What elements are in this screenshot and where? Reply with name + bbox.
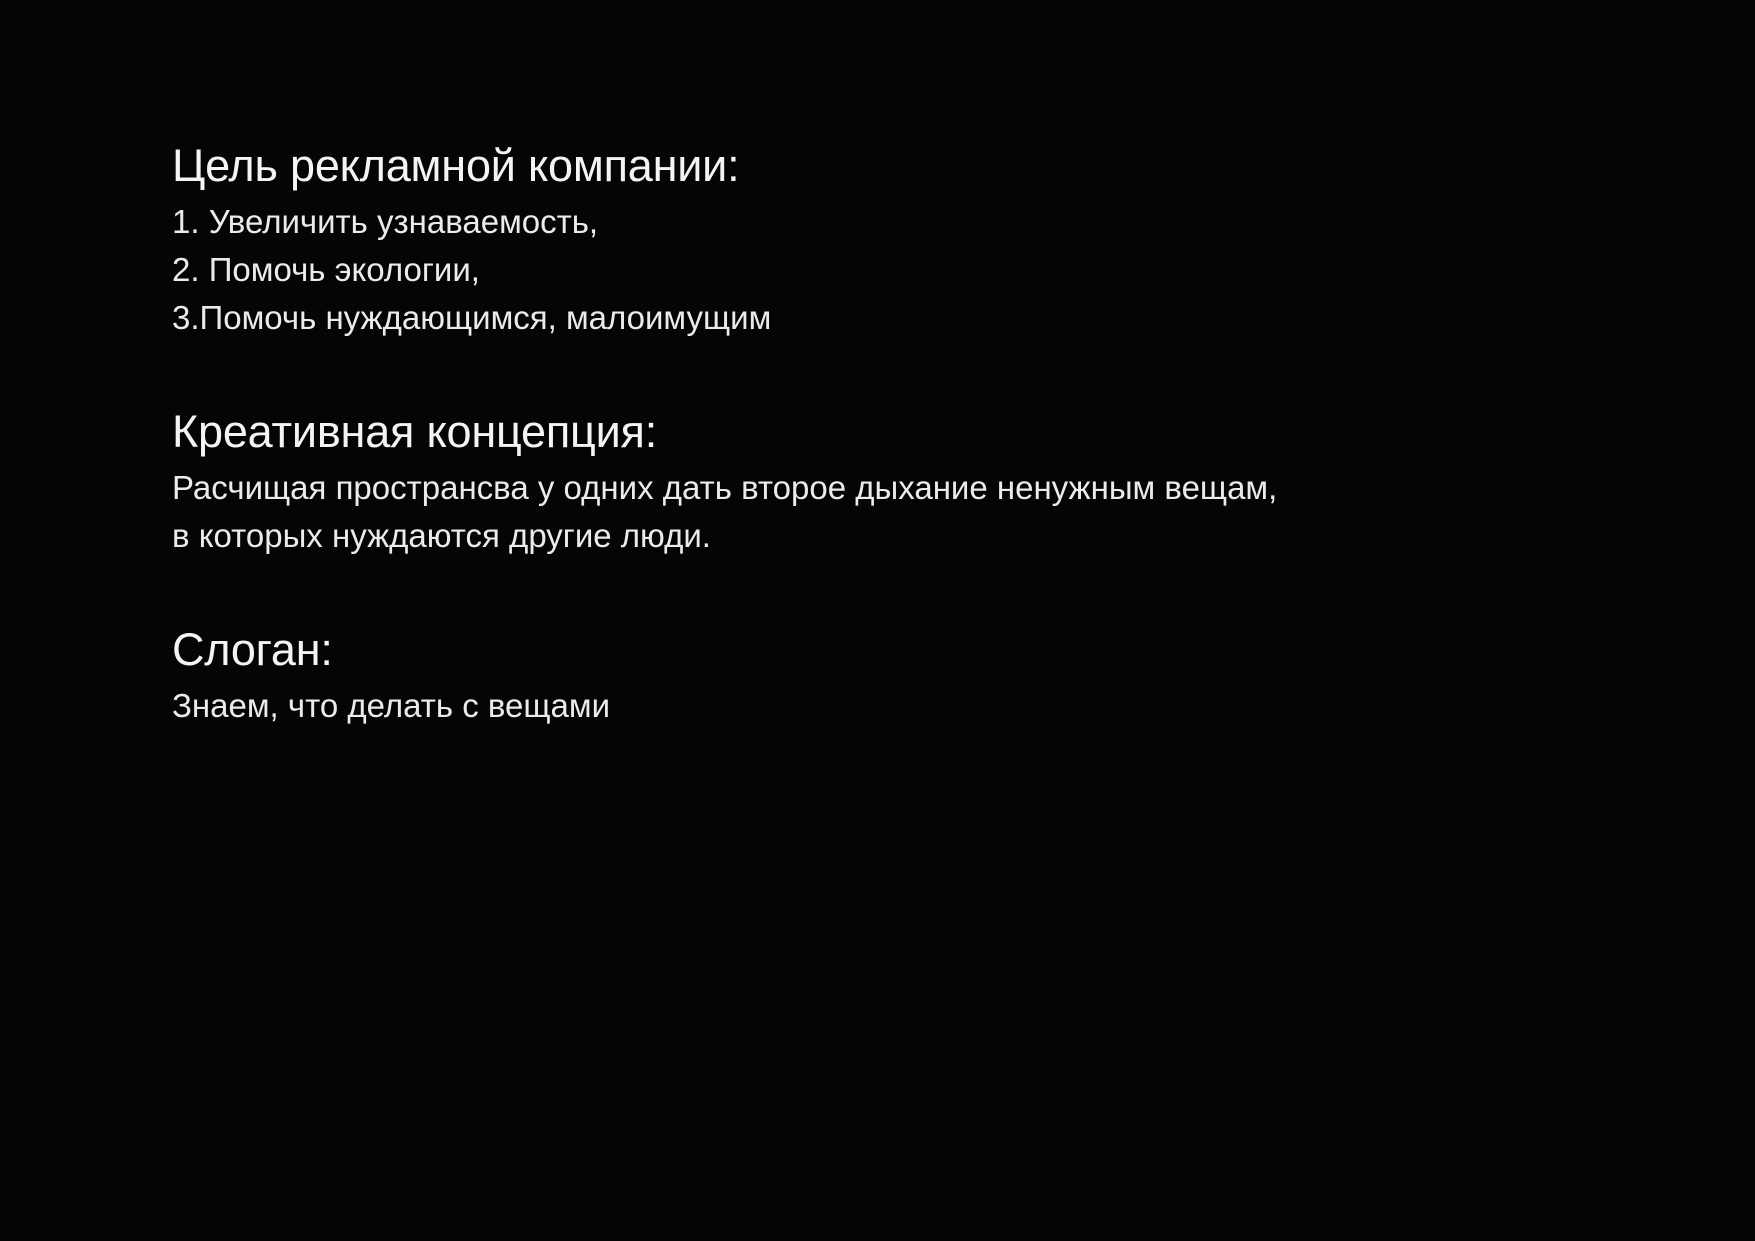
list-item: 3.Помочь нуждающимся, малоимущим	[172, 294, 1652, 342]
campaign-goal-list: 1. Увеличить узнаваемость, 2. Помочь эко…	[172, 198, 1652, 342]
paragraph-line: Расчищая пространсва у одних дать второе…	[172, 464, 1652, 512]
creative-concept-paragraph: Расчищая пространсва у одних дать второе…	[172, 464, 1652, 560]
section-creative-concept: Креативная концепция: Расчищая пространс…	[172, 404, 1652, 560]
slogan-paragraph: Знаем, что делать с вещами	[172, 682, 1652, 730]
list-item: 2. Помочь экологии,	[172, 246, 1652, 294]
section-campaign-goal: Цель рекламной компании: 1. Увеличить уз…	[172, 138, 1652, 342]
slide-canvas: Цель рекламной компании: 1. Увеличить уз…	[0, 0, 1755, 1241]
creative-concept-heading: Креативная концепция:	[172, 404, 1652, 460]
slide-content: Цель рекламной компании: 1. Увеличить уз…	[172, 138, 1652, 730]
campaign-goal-heading: Цель рекламной компании:	[172, 138, 1652, 194]
slogan-heading: Слоган:	[172, 622, 1652, 678]
paragraph-line: в которых нуждаются другие люди.	[172, 512, 1652, 560]
paragraph-line: Знаем, что делать с вещами	[172, 682, 1652, 730]
section-slogan: Слоган: Знаем, что делать с вещами	[172, 622, 1652, 730]
list-item: 1. Увеличить узнаваемость,	[172, 198, 1652, 246]
